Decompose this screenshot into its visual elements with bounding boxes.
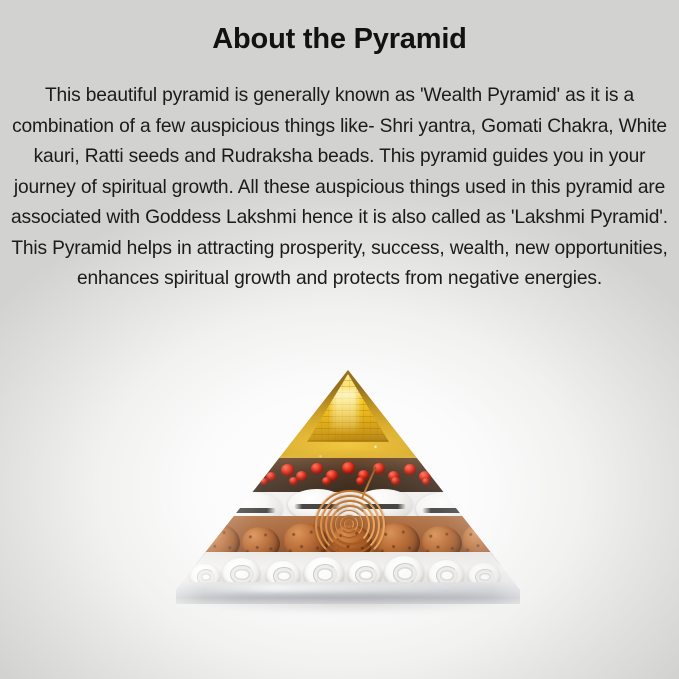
- product-image: [0, 340, 679, 640]
- ratti-seed: [236, 471, 247, 481]
- pyramid-resin-body: [176, 370, 520, 604]
- yantra-highlight: [332, 389, 358, 431]
- ratti-seed: [281, 464, 294, 476]
- product-description-panel: About the Pyramid This beautiful pyramid…: [0, 0, 679, 679]
- product-description-text: This beautiful pyramid is generally know…: [8, 81, 671, 295]
- copper-spiral-coil-icon: [315, 490, 381, 556]
- wealth-pyramid-figure: [176, 370, 520, 604]
- ratti-seed: [250, 465, 262, 476]
- resin-base-slab: [176, 582, 520, 604]
- ratti-seed: [311, 463, 323, 474]
- page-title: About the Pyramid: [0, 23, 679, 56]
- ratti-seed: [434, 464, 445, 474]
- spiral-ring: [344, 519, 354, 529]
- ratti-seed: [404, 464, 416, 475]
- ratti-seed: [448, 472, 458, 481]
- ratti-seed: [342, 462, 355, 474]
